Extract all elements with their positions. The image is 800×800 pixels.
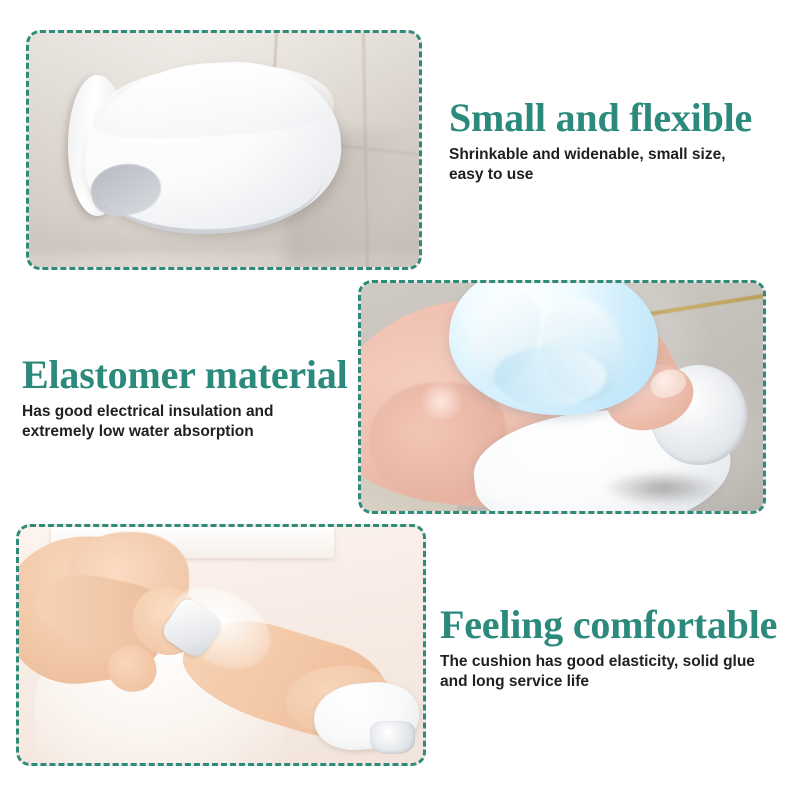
feature-heading: Elastomer material (22, 355, 372, 396)
feature-photo-small-and-flexible (26, 30, 422, 270)
feature-description: Shrinkable and widenable, small size, ea… (449, 145, 794, 185)
feature-description: The cushion has good elasticity, solid g… (440, 652, 795, 692)
footrest-suction-cup (370, 721, 414, 754)
product-infographic: Small and flexible Shrinkable and widena… (0, 0, 800, 800)
ankle-highlight (417, 383, 465, 419)
feature-description: Has good electrical insulation and extre… (22, 402, 372, 442)
feature-text-feeling-comfortable: Feeling comfortable The cushion has good… (440, 605, 795, 692)
feature-heading: Feeling comfortable (440, 605, 795, 646)
feature-photo-feeling-comfortable (16, 524, 426, 766)
loofah-fold (494, 347, 607, 406)
feature-photo-elastomer-material (358, 280, 766, 514)
feature-heading: Small and flexible (449, 98, 794, 139)
feature-text-small-and-flexible: Small and flexible Shrinkable and widena… (449, 98, 794, 185)
footrest-shadow (602, 470, 723, 506)
photo-scene-foot-with-loofah (361, 283, 763, 511)
photo-scene-wall-mounted-footrest (29, 33, 419, 267)
photo-scene-shaving-leg (19, 527, 423, 763)
feature-text-elastomer-material: Elastomer material Has good electrical i… (22, 355, 372, 442)
